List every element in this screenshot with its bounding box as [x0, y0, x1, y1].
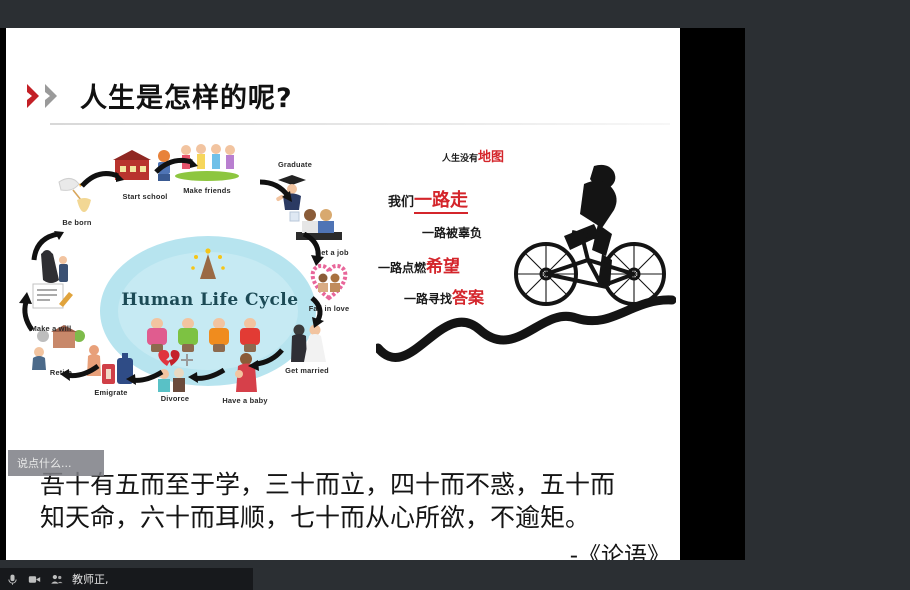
slide-title-row: 人生是怎样的呢? [26, 76, 293, 115]
microphone-icon[interactable] [6, 573, 19, 586]
shared-screen-stage[interactable]: 人生是怎样的呢? Human Life Cycle [0, 0, 745, 590]
quote-line-2: 知天命，六十而耳顺，七十而从心所欲，不逾矩。 [40, 501, 670, 534]
arrow-icon [28, 228, 70, 262]
poster-line-3: 一路被辜负 [422, 224, 482, 241]
quote-attribution: -《论语》 [40, 536, 670, 560]
bottom-toolbar: 教师正, [0, 560, 745, 590]
title-divider [50, 123, 670, 125]
zoom-meeting-window: 人生是怎样的呢? Human Life Cycle [0, 0, 910, 590]
chat-placeholder: 说点什么... [8, 455, 72, 471]
presentation-slide: 人生是怎样的呢? Human Life Cycle [6, 28, 680, 560]
cycle-center-title: Human Life Cycle [112, 290, 308, 310]
participants-icon[interactable] [50, 573, 63, 586]
cyclist-poster: 人生没有地图 我们一路走 一路被辜负 一路点燃希望 一路寻找答案 [376, 140, 676, 395]
arrow-icon [154, 156, 202, 180]
participant-panel: AiqinWang [745, 0, 910, 590]
arrow-icon [58, 362, 100, 384]
arrow-icon [124, 368, 164, 388]
human-life-cycle-diagram: Human Life Cycle [14, 140, 374, 430]
camera-icon[interactable] [28, 573, 41, 586]
poster-line-4: 一路点燃希望 [378, 252, 460, 277]
page-title: 人生是怎样的呢? [80, 76, 293, 115]
arrow-icon [186, 366, 226, 386]
cyclist-silhouette-icon [502, 162, 668, 322]
chat-input[interactable]: 说点什么... [8, 450, 104, 476]
chevron-red-icon [26, 83, 43, 109]
bottom-toolbar-inner[interactable]: 教师正, [0, 568, 253, 590]
poster-line-2: 我们一路走 [388, 186, 468, 212]
cycle-node-label: Graduate [252, 160, 338, 169]
slide-quote: 吾十有五而至于学，三十而立，四十而不惑，五十而 知天命，六十而耳顺，七十而从心所… [40, 468, 670, 534]
poster-line-5: 一路寻找答案 [404, 284, 484, 308]
cycle-node-label: Make friends [164, 186, 250, 195]
arrow-icon [304, 296, 332, 330]
chevron-gray-icon [44, 83, 61, 109]
arrow-icon [246, 348, 286, 374]
bottom-toolbar-label: 教师正, [72, 571, 109, 587]
arrow-icon [80, 168, 128, 194]
arrow-icon [300, 232, 330, 270]
arrow-icon [18, 290, 44, 332]
quote-line-1: 吾十有五而至于学，三十而立，四十而不惑，五十而 [40, 468, 670, 501]
children-illustration [144, 318, 272, 352]
poster-line-1: 人生没有地图 [442, 146, 504, 165]
tree-icon [190, 248, 226, 282]
cycle-node-label: Be born [34, 218, 120, 227]
arrow-icon [258, 176, 300, 206]
